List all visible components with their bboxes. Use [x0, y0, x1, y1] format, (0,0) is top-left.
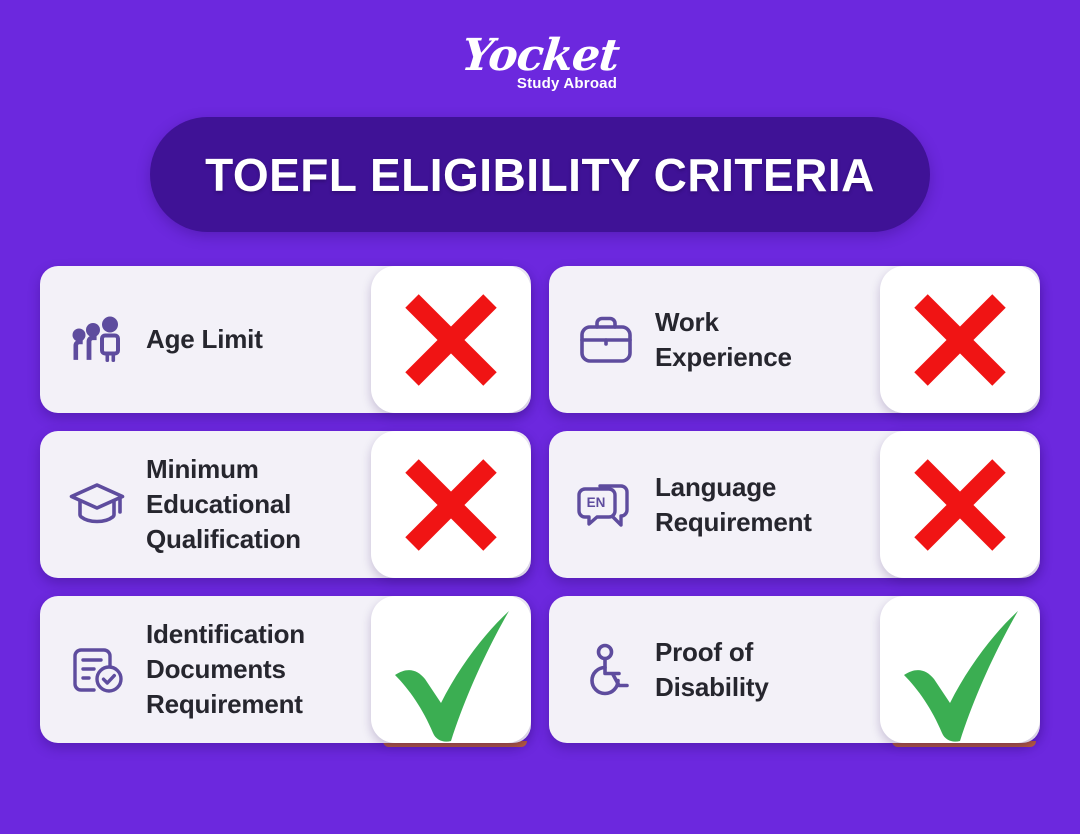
svg-text:EN: EN [587, 495, 606, 510]
check-icon [890, 595, 1030, 745]
status-panel-not-required [880, 431, 1040, 578]
criteria-card-work-experience[interactable]: Work Experience [549, 266, 1040, 413]
brand-wordmark: Yocket [459, 34, 620, 78]
language-chat-en-icon: EN [575, 474, 637, 536]
briefcase-icon [575, 309, 637, 371]
brand-logo: Yocket Study Abroad [0, 0, 1080, 92]
criteria-card-minimum-educational-qualification[interactable]: Minimum Educational Qualification [40, 431, 531, 578]
cross-icon [395, 449, 507, 561]
cross-icon [395, 284, 507, 396]
criteria-card-identification-documents[interactable]: Identification Documents Requirement [40, 596, 531, 743]
criteria-grid: Age Limit Work Experience [40, 266, 1040, 743]
status-panel-required [880, 596, 1040, 743]
wheelchair-accessibility-icon [575, 639, 637, 701]
page-title-pill: TOEFL ELIGIBILITY CRITERIA [150, 117, 930, 232]
status-panel-required [371, 596, 531, 743]
status-panel-not-required [371, 266, 531, 413]
graduation-cap-icon [66, 474, 128, 536]
cross-icon [904, 284, 1016, 396]
cross-icon [904, 449, 1016, 561]
status-panel-not-required [880, 266, 1040, 413]
criteria-card-age-limit[interactable]: Age Limit [40, 266, 531, 413]
page-title: TOEFL ELIGIBILITY CRITERIA [205, 148, 875, 202]
criteria-card-proof-of-disability[interactable]: Proof of Disability [549, 596, 1040, 743]
status-panel-not-required [371, 431, 531, 578]
page-title-wrap: TOEFL ELIGIBILITY CRITERIA [0, 117, 1080, 232]
document-check-icon [66, 639, 128, 701]
criteria-card-language-requirement[interactable]: EN Language Requirement [549, 431, 1040, 578]
check-icon [381, 595, 521, 745]
people-group-icon [66, 309, 128, 371]
